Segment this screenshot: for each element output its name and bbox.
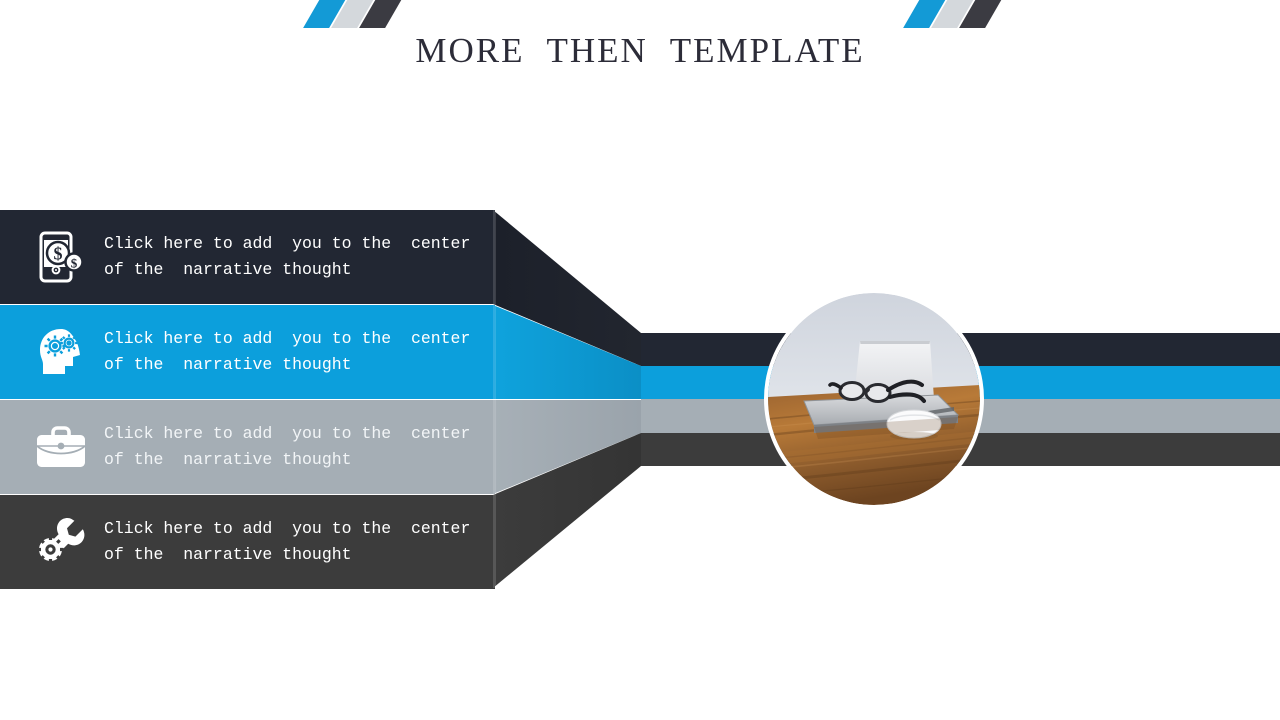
funnel-row-2[interactable]: Click here to add you to the center of t… [0, 305, 495, 399]
title-word-1: MORE [415, 31, 524, 70]
funnel-row-text: Click here to add you to the center of t… [104, 326, 485, 378]
desk-workspace-photo [764, 289, 984, 509]
funnel-row-1[interactable]: $ $ Click here to add you to the center … [0, 210, 495, 304]
page-title: MORETHENTEMPLATE [400, 30, 880, 72]
slide-canvas: MORETHENTEMPLATE [0, 0, 1280, 720]
funnel-row-text: Click here to add you to the center of t… [104, 231, 485, 283]
funnel-seam-divider [493, 210, 496, 588]
slanted-bars-ornament-right [898, 0, 1008, 46]
funnel-diagram: $ $ Click here to add you to the center … [0, 200, 1280, 600]
title-word-3: TEMPLATE [670, 31, 865, 70]
title-word-2: THEN [546, 31, 647, 70]
head-gears-icon [26, 326, 96, 378]
funnel-row-3[interactable]: Click here to add you to the center of t… [0, 400, 495, 494]
funnel-row-4[interactable]: Click here to add you to the center of t… [0, 495, 495, 589]
slide-header: MORETHENTEMPLATE [0, 0, 1280, 95]
slanted-bars-ornament-left [298, 0, 408, 46]
ornament-notch [862, 28, 1005, 68]
briefcase-icon [26, 424, 96, 470]
ornament-notch [262, 28, 405, 68]
funnel-row-text: Click here to add you to the center of t… [104, 421, 485, 473]
svg-text:$: $ [71, 256, 78, 271]
svg-text:$: $ [54, 244, 63, 264]
funnel-row-text: Click here to add you to the center of t… [104, 516, 485, 568]
wrench-gear-icon [26, 515, 96, 569]
funnel-row-list: $ $ Click here to add you to the center … [0, 210, 495, 588]
mobile-payment-icon: $ $ [26, 231, 96, 283]
